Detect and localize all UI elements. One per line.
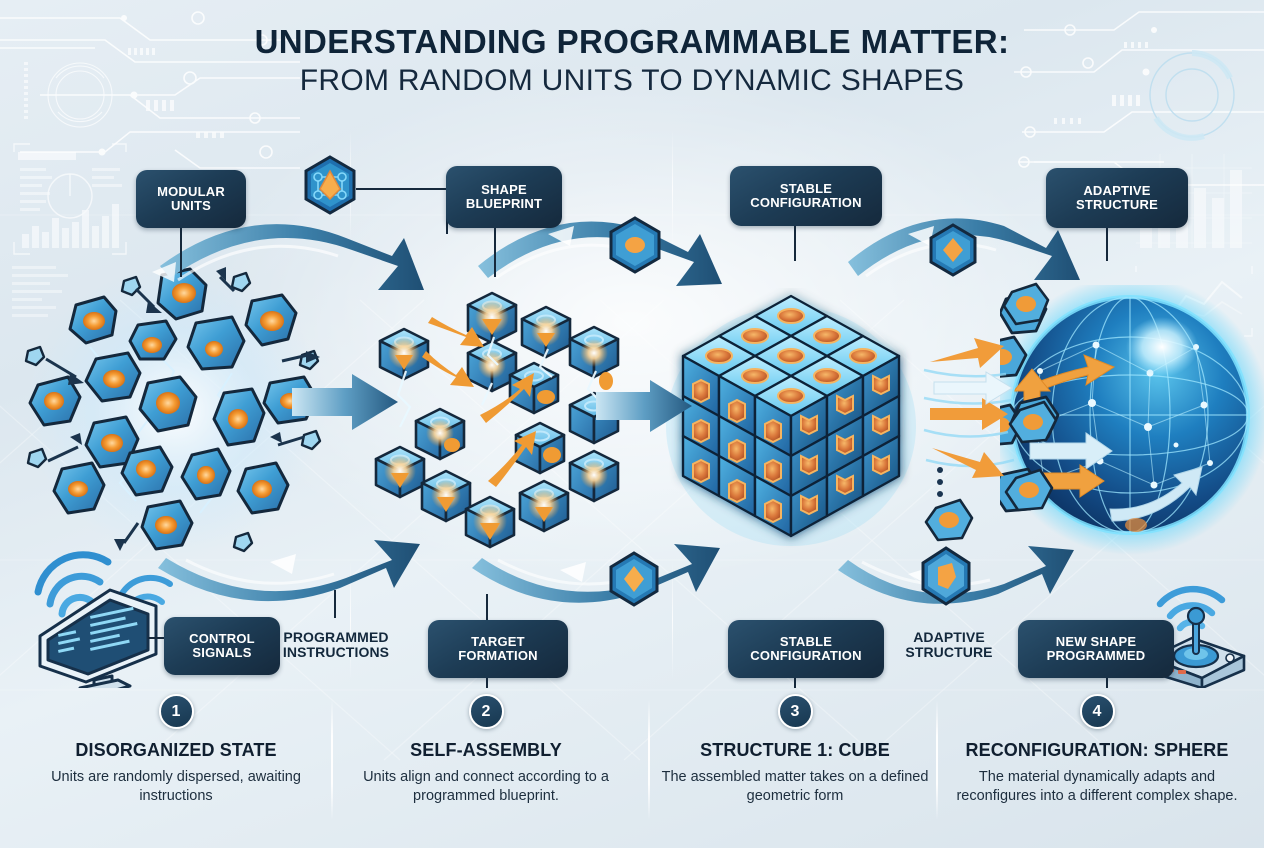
guide-line-2 bbox=[672, 130, 673, 250]
label-stable-configuration-top[interactable]: STABLE CONFIGURATION bbox=[730, 166, 882, 226]
cube-unit-icon-bottom-middle bbox=[606, 550, 662, 608]
network-sphere-artwork bbox=[1000, 285, 1264, 575]
self-assembly-cluster-artwork bbox=[370, 285, 635, 550]
step-4-number: 4 bbox=[1080, 694, 1115, 729]
step-1-title: DISORGANIZED STATE bbox=[26, 740, 326, 761]
label-modular-units[interactable]: MODULAR UNITS bbox=[136, 170, 246, 228]
step-4-title: RECONFIGURATION: SPHERE bbox=[939, 740, 1255, 761]
cube-unit-icon-top-right bbox=[926, 222, 980, 278]
label-adaptive-structure-top[interactable]: ADAPTIVE STRUCTURE bbox=[1046, 168, 1188, 228]
step-2-description: Units align and connect according to a p… bbox=[336, 768, 636, 805]
page-subtitle: FROM RANDOM UNITS TO DYNAMIC SHAPES bbox=[0, 64, 1264, 98]
column-divider-1 bbox=[331, 700, 333, 820]
assembled-cube-artwork bbox=[660, 288, 922, 556]
label-target-formation[interactable]: TARGET FORMATION bbox=[428, 620, 568, 678]
infographic-canvas: UNDERSTANDING PROGRAMMABLE MATTER: FROM … bbox=[0, 0, 1264, 848]
step-1: 1 DISORGANIZED STATE Units are randomly … bbox=[26, 694, 326, 805]
guide-line-4 bbox=[672, 560, 673, 680]
line-chart-decoration-right bbox=[1130, 262, 1258, 340]
leader-target-formation-top bbox=[486, 594, 488, 620]
wifi-signal-small-icon bbox=[118, 578, 170, 632]
label-new-shape-programmed[interactable]: NEW SHAPE PROGRAMMED bbox=[1018, 620, 1174, 678]
wifi-signal-icon bbox=[38, 555, 108, 637]
guide-line-3 bbox=[350, 560, 351, 680]
bar-chart-decoration-left bbox=[4, 138, 136, 338]
cube-unit-icon-top-middle bbox=[606, 215, 664, 275]
hexagon-blueprint-icon bbox=[300, 155, 360, 217]
step-1-description: Units are randomly dispersed, awaiting i… bbox=[26, 768, 326, 805]
label-adaptive-structure-bottom: ADAPTIVE STRUCTURE bbox=[890, 630, 1008, 660]
label-stable-configuration-bottom[interactable]: STABLE CONFIGURATION bbox=[728, 620, 884, 678]
step-4-description: The material dynamically adapts and reco… bbox=[939, 768, 1255, 805]
scattered-modular-units-artwork bbox=[20, 255, 330, 565]
leader-blueprint-horizontal bbox=[356, 188, 448, 190]
step-3-number: 3 bbox=[778, 694, 813, 729]
page-title: UNDERSTANDING PROGRAMMABLE MATTER: bbox=[0, 24, 1264, 60]
step-3-title: STRUCTURE 1: CUBE bbox=[645, 740, 945, 761]
title-block: UNDERSTANDING PROGRAMMABLE MATTER: FROM … bbox=[0, 24, 1264, 97]
label-programmed-instructions: PROGRAMMED INSTRUCTIONS bbox=[256, 630, 416, 660]
step-2-title: SELF-ASSEMBLY bbox=[336, 740, 636, 761]
step-2: 2 SELF-ASSEMBLY Units align and connect … bbox=[336, 694, 636, 805]
monitor-icon bbox=[22, 548, 182, 688]
leader-programmed-instructions bbox=[334, 590, 336, 618]
step-3-description: The assembled matter takes on a defined … bbox=[645, 768, 945, 805]
label-shape-blueprint[interactable]: SHAPE BLUEPRINT bbox=[446, 166, 562, 228]
modular-unit-icon-bottom-right bbox=[918, 545, 974, 609]
step-1-number: 1 bbox=[159, 694, 194, 729]
step-2-number: 2 bbox=[469, 694, 504, 729]
step-4: 4 RECONFIGURATION: SPHERE The material d… bbox=[939, 694, 1255, 805]
guide-line-1 bbox=[350, 130, 351, 240]
step-3: 3 STRUCTURE 1: CUBE The assembled matter… bbox=[645, 694, 945, 805]
